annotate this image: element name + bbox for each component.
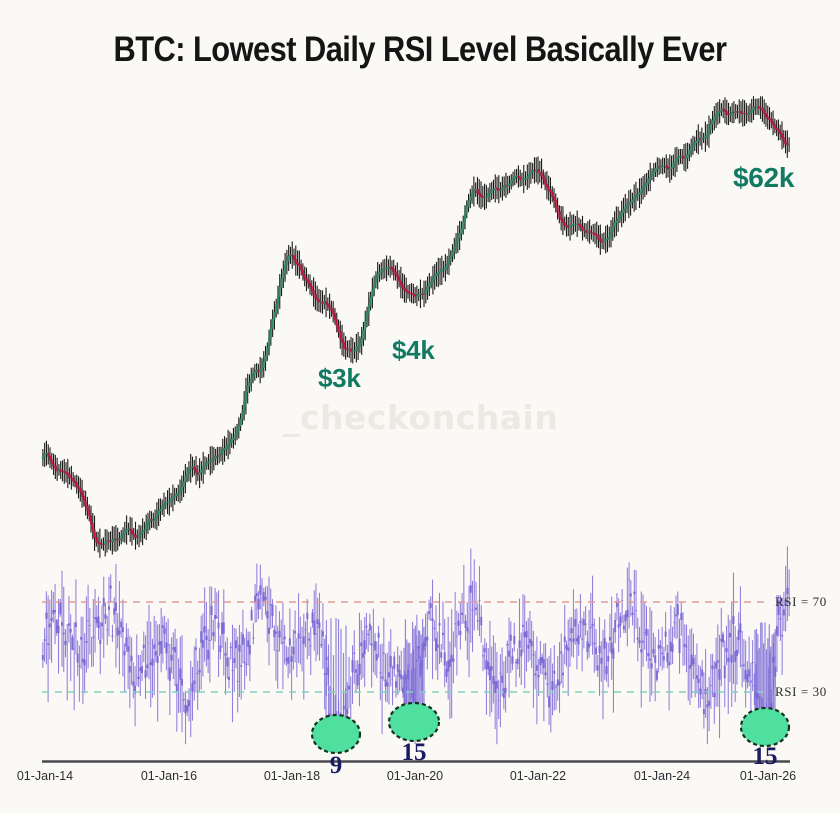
price-annotation-62k: $62k <box>733 162 794 194</box>
rsi-30-label: RSI = 30 <box>775 684 827 700</box>
oversold-highlight-2020 <box>389 703 439 741</box>
oversold-highlight-2026 <box>741 708 789 746</box>
x-tick-label-5: 01-Jan-24 <box>634 769 690 783</box>
plot-area: _checkonchain $62k $4k $3k RSI = 70 RSI … <box>0 0 840 813</box>
price-annotation-4k: $4k <box>392 335 434 366</box>
price-annotation-3k: $3k <box>318 363 360 394</box>
chart-root: BTC: Lowest Daily RSI Level Basically Ev… <box>0 0 840 813</box>
oversold-count-2026: 15 <box>753 743 778 771</box>
x-tick-label-6: 01-Jan-26 <box>740 769 796 783</box>
x-tick-label-0: 01-Jan-14 <box>17 769 73 783</box>
rsi-70-label: RSI = 70 <box>775 594 827 610</box>
oversold-highlight-2018 <box>312 715 360 753</box>
x-tick-label-3: 01-Jan-20 <box>387 769 443 783</box>
checkonchain-watermark: _checkonchain <box>283 398 558 437</box>
oversold-count-2020: 15 <box>402 739 427 767</box>
x-tick-label-1: 01-Jan-16 <box>141 769 197 783</box>
x-tick-label-2: 01-Jan-18 <box>264 769 320 783</box>
x-tick-label-4: 01-Jan-22 <box>510 769 566 783</box>
oversold-count-2018: 9 <box>330 752 343 780</box>
